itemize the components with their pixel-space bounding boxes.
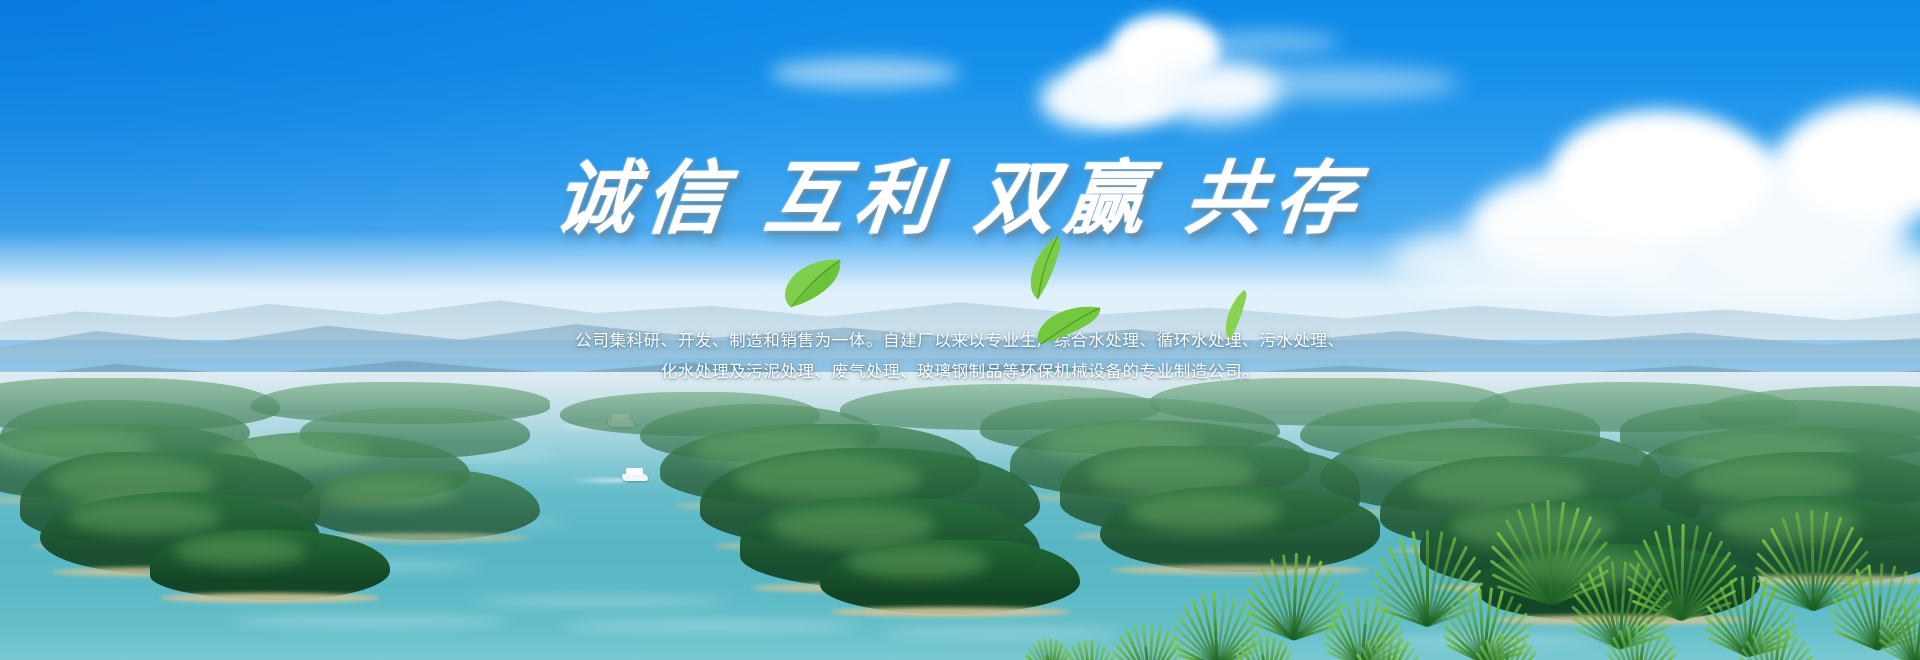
island-highlight	[770, 505, 935, 546]
green-leaf-4	[1034, 302, 1104, 346]
green-leaf-1	[782, 256, 844, 310]
pine-needle	[1382, 634, 1385, 660]
pine-branch-foreground	[1030, 410, 1920, 660]
island-shoreline	[160, 593, 381, 603]
island-highlight	[846, 546, 989, 579]
green-leaf-3	[1224, 288, 1248, 340]
pine-needle	[1266, 635, 1269, 660]
island-highlight	[174, 536, 306, 568]
water-streak	[230, 616, 510, 627]
pine-needle	[1090, 640, 1094, 660]
water-streak	[470, 596, 730, 606]
island-highlight	[68, 499, 222, 536]
island	[150, 530, 390, 600]
water-streak	[560, 620, 860, 632]
cloud-wisp-left	[770, 58, 960, 88]
island-highlight	[324, 476, 456, 508]
island	[300, 470, 540, 540]
island-highlight	[734, 456, 921, 501]
hero-banner: 诚信 互利 双赢 共存 公司集科研、开发、制造和销售为一体。自建厂以来以专业生产…	[0, 0, 1920, 660]
green-leaf-2	[1028, 234, 1062, 300]
cloud-wisp-upper-right	[1190, 30, 1340, 54]
